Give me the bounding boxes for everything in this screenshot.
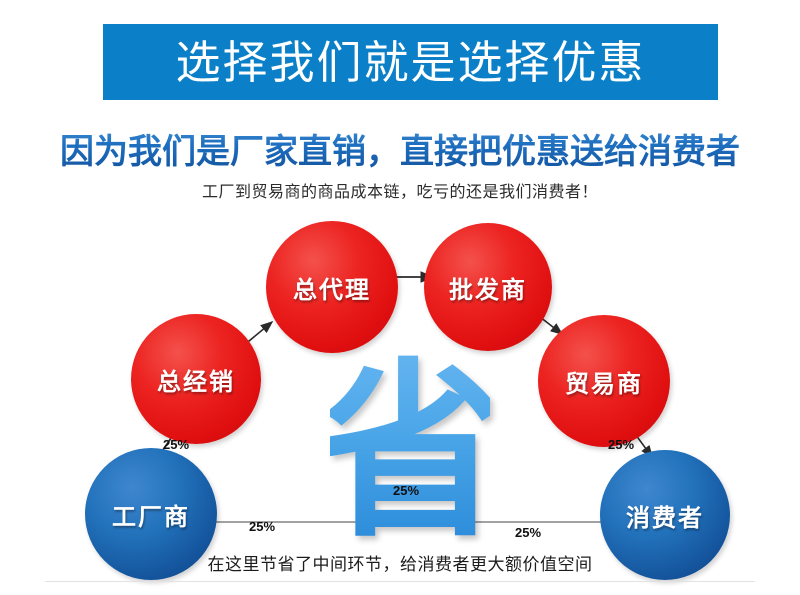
node-distributor-label: 总经销 xyxy=(157,362,235,397)
markup-label-agent-wholesaler: 25% xyxy=(393,483,419,498)
markup-label-distributor-agent: 25% xyxy=(249,519,275,534)
node-trader[interactable]: 贸易商 xyxy=(538,315,670,447)
node-trader-label: 贸易商 xyxy=(565,364,643,399)
node-agent[interactable]: 总代理 xyxy=(266,221,398,353)
banner-title: 选择我们就是选择优惠 xyxy=(175,40,645,85)
supply-chain-diagram: 省 工厂商 总经销 总代理 批发商 贸易商 消费者 25% 25% 25% 25… xyxy=(0,205,800,595)
node-factory-label: 工厂商 xyxy=(112,497,190,532)
node-agent-label: 总代理 xyxy=(293,270,371,305)
headline: 因为我们是厂家直销，直接把优惠送给消费者 xyxy=(0,124,800,173)
promo-infographic: 选择我们就是选择优惠 因为我们是厂家直销，直接把优惠送给消费者 工厂到贸易商的商… xyxy=(0,0,800,595)
node-wholesaler[interactable]: 批发商 xyxy=(424,223,552,351)
bottom-divider xyxy=(45,581,755,582)
node-consumer-label: 消费者 xyxy=(626,498,704,533)
banner: 选择我们就是选择优惠 xyxy=(103,24,718,100)
subtitle: 工厂到贸易商的商品成本链，吃亏的还是我们消费者！ xyxy=(0,178,800,202)
markup-label-wholesaler-trader: 25% xyxy=(515,525,541,540)
node-distributor[interactable]: 总经销 xyxy=(131,314,261,444)
node-wholesaler-label: 批发商 xyxy=(449,270,527,305)
diagram-footer-text: 在这里节省了中间环节，给消费者更大额价值空间 xyxy=(0,550,800,575)
markup-label-trader-consumer: 25% xyxy=(608,437,634,452)
markup-label-factory-distributor: 25% xyxy=(163,437,189,452)
